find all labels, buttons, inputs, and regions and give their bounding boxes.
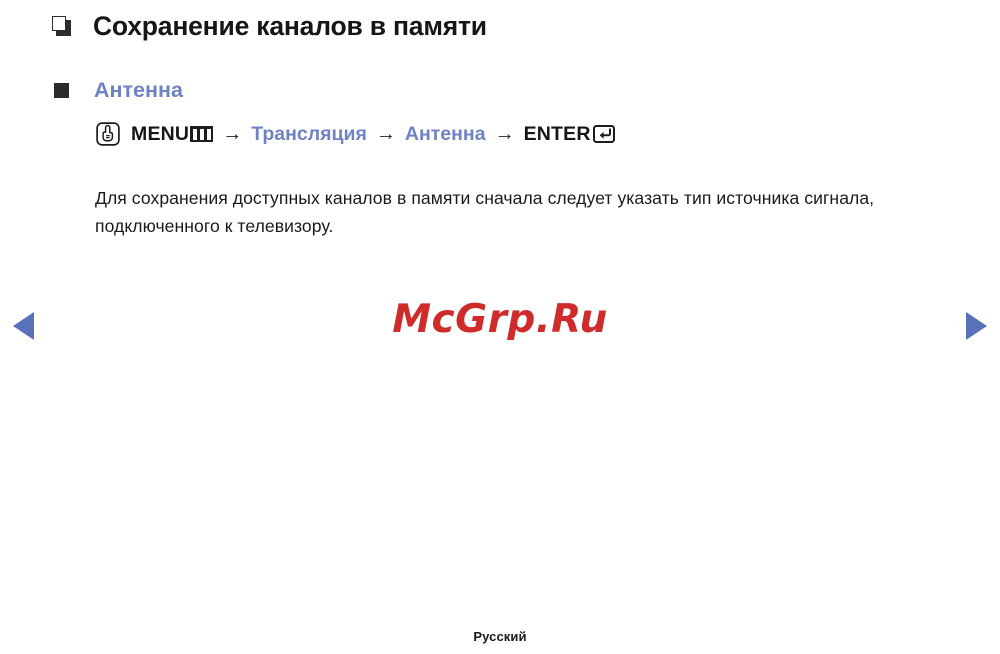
page-title-row: Сохранение каналов в памяти xyxy=(52,13,487,40)
triangle-left-icon[interactable] xyxy=(13,312,34,340)
page-title: Сохранение каналов в памяти xyxy=(93,13,487,40)
section-heading-row: Антенна xyxy=(54,80,183,102)
triangle-right-icon[interactable] xyxy=(966,312,987,340)
filled-square-icon xyxy=(54,83,69,98)
enter-return-icon xyxy=(593,125,615,143)
hand-pointer-icon xyxy=(96,122,120,146)
hollow-square-shadow-icon xyxy=(52,16,72,37)
menu-label: MENU xyxy=(131,123,189,146)
path-arrow-3: → xyxy=(495,124,515,144)
body-paragraph: Для сохранения доступных каналов в памят… xyxy=(95,184,925,240)
path-step-antenna: Антенна xyxy=(405,123,486,146)
path-step-broadcast: Трансляция xyxy=(251,123,367,146)
path-arrow-2: → xyxy=(376,124,396,144)
footer-language: Русский xyxy=(0,629,1000,644)
menu-path: MENU → Трансляция → Антенна → ENTER xyxy=(96,122,615,146)
path-arrow-1: → xyxy=(222,124,242,144)
section-heading: Антенна xyxy=(94,80,183,102)
menu-bars-icon xyxy=(190,126,213,142)
manual-page: Сохранение каналов в памяти Антенна MENU… xyxy=(0,0,1000,654)
enter-label: ENTER xyxy=(524,123,591,146)
watermark: McGrp.Ru xyxy=(0,300,1000,339)
